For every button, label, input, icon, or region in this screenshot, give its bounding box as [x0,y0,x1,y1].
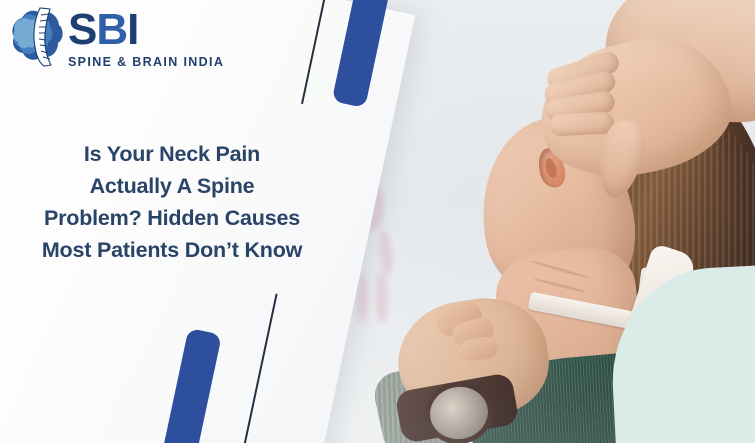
headline-line-1: Is Your Neck Pain [22,138,322,170]
page-title: Is Your Neck Pain Actually A Spine Probl… [22,138,322,266]
headline-line-3: Problem? Hidden Causes [22,202,322,234]
logo-tagline: SPINE & BRAIN INDIA [68,55,224,69]
headline-line-2: Actually A Spine [22,170,322,202]
article-hero-banner: SBI SPINE & BRAIN INDIA Is Your Neck Pai… [0,0,755,443]
sbi-logo[interactable]: SBI SPINE & BRAIN INDIA [8,6,224,69]
logo-wordmark: SBI SPINE & BRAIN INDIA [68,8,224,69]
headline-line-4: Most Patients Don’t Know [22,234,322,266]
logo-word-sbi: SBI [68,8,224,52]
brain-spine-icon [8,6,66,68]
